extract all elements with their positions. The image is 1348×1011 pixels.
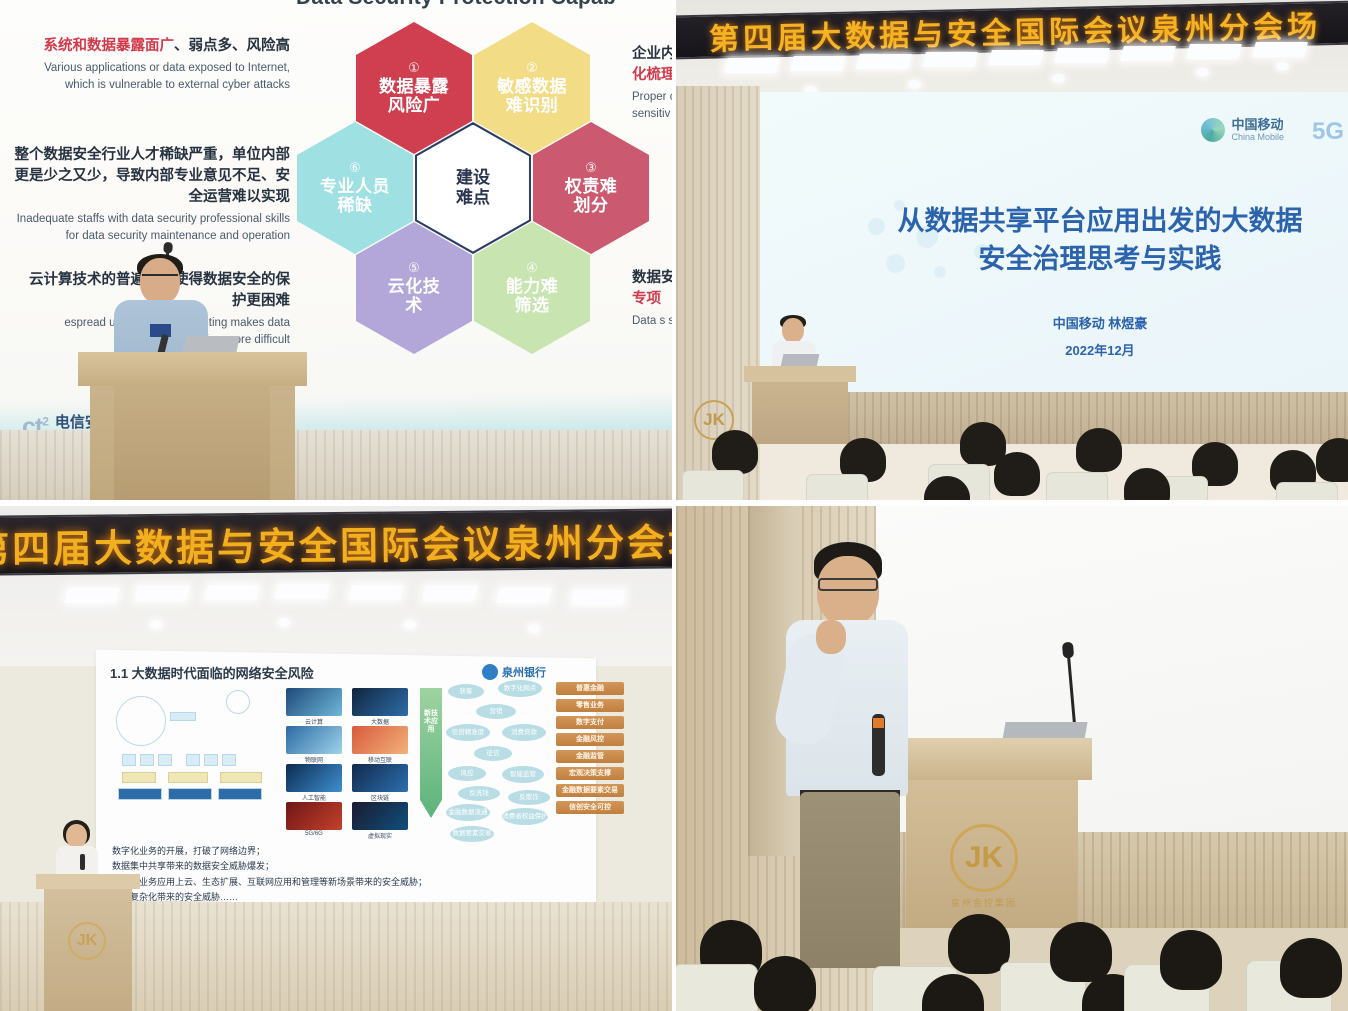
audience-head <box>712 430 758 474</box>
audience-head <box>994 452 1040 496</box>
audience-head <box>1050 922 1112 982</box>
hexagon-center-line1: 建设 <box>456 168 490 188</box>
audience-head <box>1160 930 1222 990</box>
ct-mark-sup: 2 <box>42 415 48 429</box>
callout-2: 整个数据安全行业人才稀缺严重，单位内部更是少之又少，导致内部专业意见不足、安全运… <box>12 145 290 244</box>
photo-collage: Data Security Protection Capab ① 数据暴露 风险… <box>0 0 1348 1011</box>
photo-caption: 虚拟现实 <box>352 831 408 840</box>
podium-top-surface <box>744 366 856 382</box>
callout-5-en: Data s selecte <box>632 313 672 330</box>
hexagon-5-number: ⑤ <box>408 261 420 276</box>
glasses-icon <box>142 274 178 281</box>
ellipse-item: 消费贷款 <box>502 724 546 741</box>
audience-top-right <box>676 420 1348 500</box>
business-boxes: 普惠金融 零售业务 数字支付 金融风控 金融监管 宏观决策支撑 金融数据要素交易… <box>556 682 626 818</box>
hexagon-2-line1: 敏感数据 <box>497 77 567 96</box>
ellipse-item: 智能监管 <box>502 766 544 783</box>
china-mobile-en: China Mobile <box>1231 132 1284 142</box>
ellipse-item: 数字化网点 <box>498 680 542 697</box>
hexagon-diagram: ① 数据暴露 风险广 ② 敏感数据 难识别 ③ 权责难 划分 ④ 能力难 筛选 … <box>297 22 627 382</box>
hexagon-3-line1: 权责难 <box>565 177 618 196</box>
ellipse-item: 消费者权益保护 <box>502 808 548 825</box>
callout-2-en: Inadequate staffs with data security pro… <box>12 211 290 244</box>
ellipse-item: 获客 <box>448 684 484 699</box>
hexagon-4-line1: 能力难 <box>506 277 559 296</box>
business-box: 零售业务 <box>556 699 624 712</box>
presenter-name: 中国移动 林煜豪 <box>830 310 1348 337</box>
photo-caption: 物联网 <box>286 755 342 764</box>
hexagon-5-line2: 术 <box>405 296 423 315</box>
glasses-icon <box>818 578 878 591</box>
callout-4-line2: 化梳理 <box>632 67 672 83</box>
callout-1-rest: 、弱点多、风险高 <box>174 38 290 54</box>
audience-chair <box>806 474 868 500</box>
left-diagram <box>116 688 276 798</box>
bank-name: 泉州银行 <box>502 664 546 680</box>
hexagon-4-line2: 筛选 <box>515 296 550 315</box>
audience-chair <box>682 470 744 500</box>
speaker-head <box>817 556 879 626</box>
ellipse-item: 金融数据流通 <box>446 804 490 821</box>
china-mobile-words: 中国移动 China Mobile <box>1231 118 1284 142</box>
hexagon-3-line2: 划分 <box>574 196 609 215</box>
hexagon-2-number: ② <box>526 61 538 76</box>
business-box: 金融风控 <box>556 733 624 746</box>
callout-5-line1: 数据安 <box>632 270 672 286</box>
panel-bottom-right: JK 泉州金控集团 <box>676 506 1348 1011</box>
audience-head <box>754 956 816 1011</box>
business-box: 普惠金融 <box>556 682 624 695</box>
slide-subtitle-top-right: 中国移动 林煜豪 2022年12月 <box>830 310 1348 365</box>
podium-top-left <box>90 352 295 500</box>
hexagon-1-line2: 风险广 <box>388 96 441 115</box>
slide-title-line2: 安全治理思考与实践 <box>830 240 1348 278</box>
arrow-label: 新技术应用 <box>424 710 438 734</box>
speaker-hand <box>816 620 846 654</box>
podium-body <box>114 386 270 500</box>
ellipse-item: 征信 <box>474 746 512 761</box>
photo-caption: 云计算 <box>286 717 342 726</box>
ellipse-item: 风控 <box>448 766 486 781</box>
panel-top-right: 第四届大数据与安全国际会议泉州分会场 中国移 <box>676 0 1348 500</box>
photo-caption: 大数据 <box>352 717 408 726</box>
slide-title-top-right: 从数据共享平台应用出发的大数据 安全治理思考与实践 <box>830 202 1348 279</box>
business-box: 金融数据要素交易 <box>556 784 624 797</box>
callout-4-line1: 企业内 <box>632 46 672 62</box>
capability-ellipses: 获客 数字化网点 营销 信贷精准度 消费贷款 征信 风控 智能监管 反洗钱 反欺… <box>446 684 558 824</box>
podium-top-surface <box>36 874 140 889</box>
slide-bullets-bottom-left: 数字化业务的开展，打破了网络边界； 数据集中共享带来的数据安全威胁爆发； 开放、… <box>112 844 542 906</box>
callout-4-en: Proper c adopted sensitiv <box>632 89 672 122</box>
technology-photos: 云计算 大数据 物联网 移动互联 人工智能 区块链 5G/6G 虚拟现实 <box>286 688 412 820</box>
audience-head <box>1124 468 1170 500</box>
bank-mark-icon <box>482 664 498 680</box>
speaker-head <box>66 824 87 848</box>
podium-top-surface <box>78 352 307 386</box>
slide-title-line1: 从数据共享平台应用出发的大数据 <box>830 202 1348 240</box>
audience-chair <box>676 964 758 1011</box>
speaker-head <box>782 318 804 343</box>
hexagon-5-line1: 云化技 <box>388 277 441 296</box>
panel-bottom-left: 第四届大数据与安全国际会议泉州分会场 1.1 大数据时代面临的网络安全风险 泉州… <box>0 506 672 1011</box>
ellipse-item: 营销 <box>476 704 516 719</box>
handheld-microphone-icon <box>80 854 85 870</box>
slide-title-top-left: Data Security Protection Capab <box>236 0 672 10</box>
hexagon-1-number: ① <box>408 61 420 76</box>
hexagon-6-line2: 稀缺 <box>338 196 373 215</box>
presentation-date: 2022年12月 <box>830 337 1348 364</box>
business-box: 金融监管 <box>556 750 624 763</box>
projection-screen-top-right: 中国移动 China Mobile 5G 从数据共享平台应用出发的大数据 安全治… <box>760 92 1348 392</box>
business-box: 信创安全可控 <box>556 801 624 814</box>
5g-badge: 5G <box>1312 118 1344 146</box>
hexagon-6-line1: 专业人员 <box>320 177 390 196</box>
business-box: 数字支付 <box>556 716 624 729</box>
bank-logo: 泉州银行 <box>482 664 546 680</box>
audience-head <box>1316 438 1348 482</box>
audience-head <box>1280 938 1342 998</box>
arrow-new-tech: 新技术应用 <box>420 688 442 818</box>
bullet-line: 数据集中共享带来的数据安全威胁爆发； <box>112 859 542 874</box>
photo-caption: 移动互联 <box>352 755 408 764</box>
audience-chair <box>1276 482 1338 500</box>
led-banner-bottom-left: 第四届大数据与安全国际会议泉州分会场 <box>0 508 672 575</box>
hexagon-2-line2: 难识别 <box>506 96 559 115</box>
bullet-line: 数字化业务的开展，打破了网络边界； <box>112 844 542 859</box>
hexagon-4-number: ④ <box>526 261 538 276</box>
microphone-band-icon <box>873 718 884 728</box>
slide-heading-bottom-left: 1.1 大数据时代面临的网络安全风险 <box>110 663 314 682</box>
led-banner-text: 第四届大数据与安全国际会议泉州分会场 <box>0 511 672 574</box>
hexagon-6-number: ⑥ <box>349 161 361 176</box>
podium-logo-bottom-left: JK <box>68 922 106 960</box>
callout-1-highlight: 系统和数据暴露面广 <box>44 38 175 54</box>
speaker-bottom-right <box>794 542 964 932</box>
china-mobile-cn: 中国移动 <box>1231 118 1284 132</box>
hexagon-1-line1: 数据暴露 <box>379 77 449 96</box>
audience-head <box>1076 428 1122 472</box>
callout-2-zh: 整个数据安全行业人才稀缺严重，单位内部更是少之又少，导致内部专业意见不足、安全运… <box>12 145 290 208</box>
china-mobile-logo: 中国移动 China Mobile <box>1201 118 1284 142</box>
callout-4: 企业内 化梳理 Proper c adopted sensitiv <box>632 44 672 122</box>
callout-5: 数据安 专项 Data s selecte <box>632 268 672 330</box>
audience-chair <box>1046 472 1108 500</box>
speaker-head <box>140 258 180 304</box>
bullet-line: 开放、业务应用上云、生态扩展、互联网应用和管理等新场景带来的安全威胁； <box>112 875 542 890</box>
photo-caption: 人工智能 <box>286 793 342 802</box>
ellipse-item: 反洗钱 <box>458 786 500 801</box>
callout-5-line2: 专项 <box>632 291 661 307</box>
callout-1-en: Various applications or data exposed to … <box>18 60 290 93</box>
business-box: 宏观决策支撑 <box>556 767 624 780</box>
callout-1: 系统和数据暴露面广、弱点多、风险高 Various applications o… <box>18 36 290 93</box>
china-mobile-mark-icon <box>1201 118 1225 142</box>
photo-caption: 5G/6G <box>286 831 342 837</box>
hexagon-3-number: ③ <box>585 161 597 176</box>
ellipse-item: 信贷精准度 <box>446 724 490 741</box>
photo-caption: 区块链 <box>352 793 408 802</box>
ellipse-item: 数据要素交易 <box>450 826 494 842</box>
panel-top-left: Data Security Protection Capab ① 数据暴露 风险… <box>0 0 672 500</box>
podium-bottom-left: JK <box>44 874 132 1011</box>
ellipse-item: 反欺诈 <box>508 790 550 805</box>
hexagon-center: 建设 难点 <box>417 125 529 252</box>
audience-bottom-right <box>676 908 1348 1011</box>
hexagon-center-line2: 难点 <box>456 188 490 208</box>
ceiling-lights-top-right <box>726 58 1346 84</box>
